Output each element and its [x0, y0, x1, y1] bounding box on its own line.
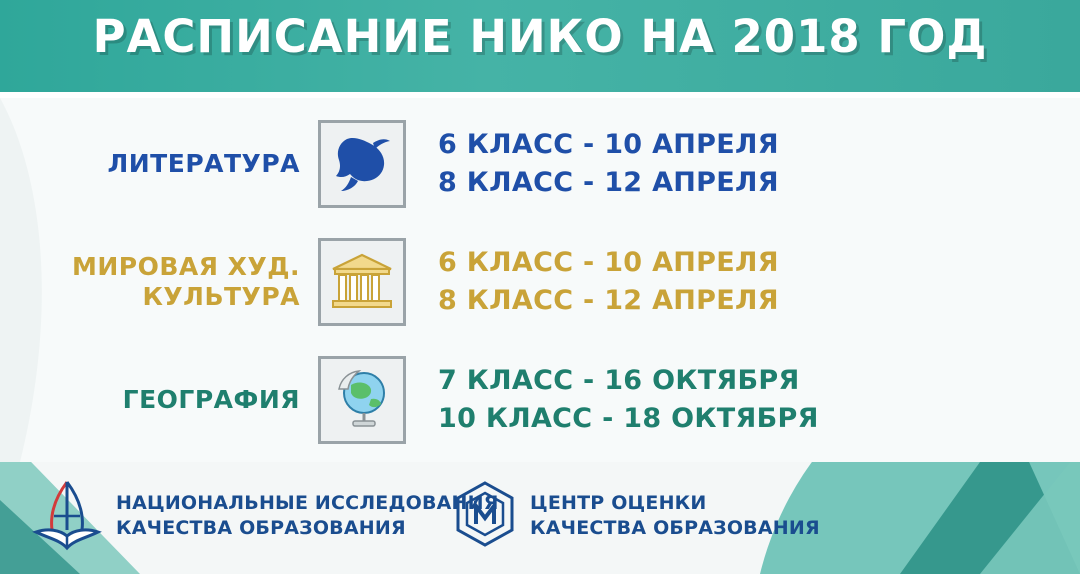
- dates-group: 6 КЛАСС - 10 АПРЕЛЯ 8 КЛАСС - 12 АПРЕЛЯ: [438, 126, 779, 203]
- schedule-row: ЛИТЕРАТУРА 6 КЛАСС - 10 АПРЕЛЯ 8 КЛАСС -…: [0, 108, 1080, 220]
- schedule-list: ЛИТЕРАТУРА 6 КЛАСС - 10 АПРЕЛЯ 8 КЛАСС -…: [0, 96, 1080, 456]
- subject-icon-box: [318, 238, 406, 326]
- logo-niko-line2: КАЧЕСТВА ОБРАЗОВАНИЯ: [116, 516, 499, 541]
- logo-coko-text: ЦЕНТР ОЦЕНКИ КАЧЕСТВА ОБРАЗОВАНИЯ: [530, 491, 820, 540]
- subject-line1: МИРОВАЯ ХУД.: [72, 252, 300, 281]
- poster-root: РАСПИСАНИЕ НИКО НА 2018 ГОД ЛИТЕРАТУРА 6…: [0, 0, 1080, 574]
- niko-book-logo-icon: [30, 476, 104, 556]
- date-line: 6 КЛАСС - 10 АПРЕЛЯ: [438, 126, 779, 164]
- logo-niko-line1: НАЦИОНАЛЬНЫЕ ИССЛЕДОВАНИЯ: [116, 492, 499, 514]
- pushkin-silhouette-icon: [327, 129, 397, 199]
- subject-label: МИРОВАЯ ХУД. КУЛЬТУРА: [0, 252, 318, 313]
- dates-group: 7 КЛАСС - 16 ОКТЯБРЯ 10 КЛАСС - 18 ОКТЯБ…: [438, 362, 819, 439]
- subject-icon-box: [318, 356, 406, 444]
- logo-coko-line1: ЦЕНТР ОЦЕНКИ: [530, 492, 707, 514]
- schedule-row: МИРОВАЯ ХУД. КУЛЬТУРА 6 КЛАСС -: [0, 226, 1080, 338]
- subject-line1: ГЕОГРАФИЯ: [123, 385, 300, 414]
- date-line: 10 КЛАСС - 18 ОКТЯБРЯ: [438, 400, 819, 438]
- logo-niko-text: НАЦИОНАЛЬНЫЕ ИССЛЕДОВАНИЯ КАЧЕСТВА ОБРАЗ…: [116, 491, 499, 540]
- dates-group: 6 КЛАСС - 10 АПРЕЛЯ 8 КЛАСС - 12 АПРЕЛЯ: [438, 244, 779, 321]
- subject-icon-box: [318, 120, 406, 208]
- logo-niko: НАЦИОНАЛЬНЫЕ ИССЛЕДОВАНИЯ КАЧЕСТВА ОБРАЗ…: [30, 476, 499, 556]
- logo-coko-line2: КАЧЕСТВА ОБРАЗОВАНИЯ: [530, 516, 820, 541]
- subject-label: ГЕОГРАФИЯ: [0, 385, 318, 416]
- date-line: 8 КЛАСС - 12 АПРЕЛЯ: [438, 282, 779, 320]
- subject-line2: КУЛЬТУРА: [0, 282, 300, 313]
- page-title: РАСПИСАНИЕ НИКО НА 2018 ГОД: [0, 10, 1080, 63]
- subject-label: ЛИТЕРАТУРА: [0, 149, 318, 180]
- subject-line1: ЛИТЕРАТУРА: [108, 149, 301, 178]
- classical-temple-icon: [327, 247, 397, 317]
- header-band: РАСПИСАНИЕ НИКО НА 2018 ГОД: [0, 0, 1080, 92]
- footer: НАЦИОНАЛЬНЫЕ ИССЛЕДОВАНИЯ КАЧЕСТВА ОБРАЗ…: [0, 462, 1080, 574]
- globe-on-stand-icon: [327, 365, 397, 435]
- date-line: 7 КЛАСС - 16 ОКТЯБРЯ: [438, 362, 819, 400]
- date-line: 8 КЛАСС - 12 АПРЕЛЯ: [438, 164, 779, 202]
- schedule-row: ГЕОГРАФИЯ 7 КЛАСС - 16 ОКТЯБРЯ 10 КЛАСС …: [0, 344, 1080, 456]
- coko-hexagon-logo-icon: [452, 480, 518, 552]
- date-line: 6 КЛАСС - 10 АПРЕЛЯ: [438, 244, 779, 282]
- logo-coko: ЦЕНТР ОЦЕНКИ КАЧЕСТВА ОБРАЗОВАНИЯ: [452, 480, 820, 552]
